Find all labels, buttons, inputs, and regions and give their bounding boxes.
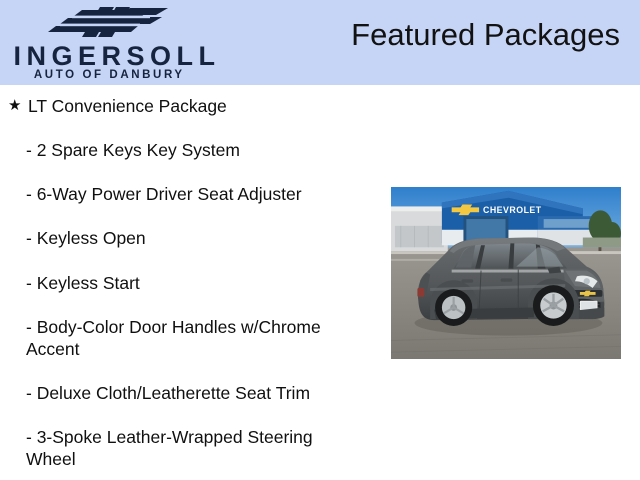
package-title-row: ★ LT Convenience Package [0,95,372,117]
dealer-tagline: AUTO OF DANBURY [8,70,208,82]
dealer-logo: INGERSOLL AUTO OF DANBURY [8,2,208,84]
list-item: - Keyless Open [0,227,372,249]
vehicle-photo: CHEVROLET [391,187,621,359]
svg-text:CHEVROLET: CHEVROLET [483,205,542,215]
package-title: LT Convenience Package [28,96,227,116]
page-title: Featured Packages [351,17,620,53]
winged-speed-emblem-icon [38,3,178,43]
vehicle-photo-frame: CHEVROLET [388,184,623,361]
page-header: INGERSOLL AUTO OF DANBURY Featured Packa… [0,0,640,85]
list-item: - 3-Spoke Leather-Wrapped Steering Wheel [0,426,372,470]
list-item: - 2 Spare Keys Key System [0,139,372,161]
list-item: - Deluxe Cloth/Leatherette Seat Trim [0,382,372,404]
dealer-name: INGERSOLL [8,43,208,70]
list-item: - Keyless Start [0,272,372,294]
list-item: - Body-Color Door Handles w/Chrome Accen… [0,316,372,360]
list-item: - 6-Way Power Driver Seat Adjuster [0,183,372,205]
package-feature-list: ★ LT Convenience Package - 2 Spare Keys … [0,85,372,470]
main-content: ★ LT Convenience Package - 2 Spare Keys … [0,85,640,480]
star-bullet-icon: ★ [8,95,21,117]
